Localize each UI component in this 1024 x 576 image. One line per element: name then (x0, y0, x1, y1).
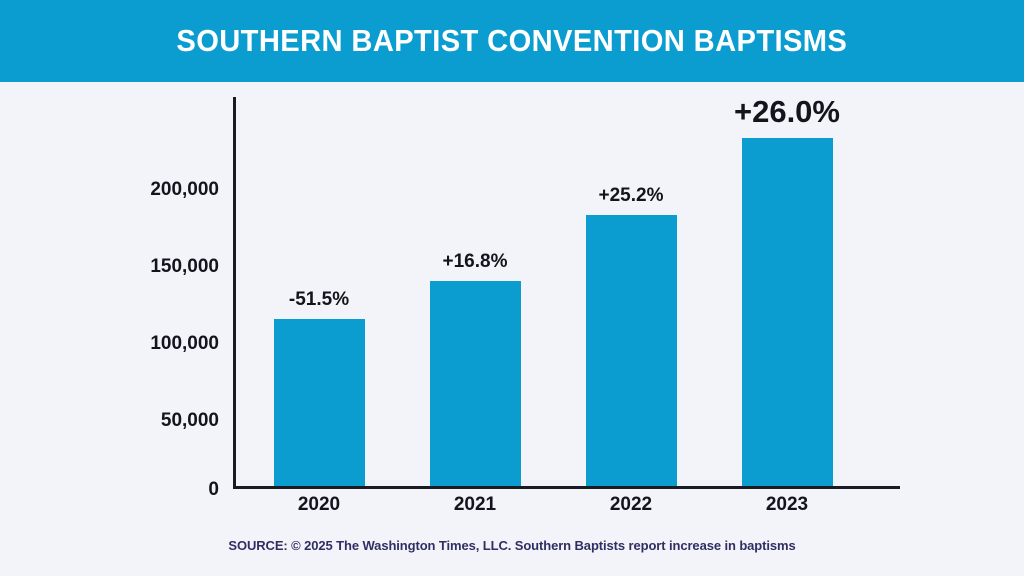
bar-value-label: -51.5% (236, 289, 402, 311)
x-axis-label-2020: 2020 (236, 494, 402, 516)
bar-chart: 200,000 150,000 100,000 50,000 0 -51.5% … (0, 82, 1024, 532)
bar-2020[interactable] (274, 319, 365, 486)
x-axis-label-2023: 2023 (704, 494, 870, 516)
x-axis-label-2022: 2022 (548, 494, 714, 516)
bar-group-2020: -51.5% (236, 82, 402, 486)
y-axis-tick-label: 50,000 (0, 411, 219, 430)
bar-value-label: +16.8% (392, 251, 558, 273)
bar-group-2022: +25.2% (548, 82, 714, 486)
bar-2023[interactable] (742, 138, 833, 486)
title-banner: SOUTHERN BAPTIST CONVENTION BAPTISMS (0, 0, 1024, 82)
bar-group-2021: +16.8% (392, 82, 558, 486)
y-axis-tick-label: 100,000 (0, 334, 219, 353)
bar-value-label-highlight: +26.0% (704, 94, 870, 130)
x-axis-label-2021: 2021 (392, 494, 558, 516)
bars-layer: -51.5% +16.8% +25.2% +26.0% 2020 2021 20… (236, 82, 900, 488)
source-attribution: SOURCE: © 2025 The Washington Times, LLC… (0, 538, 1024, 553)
bar-2022[interactable] (586, 215, 677, 486)
page-title: SOUTHERN BAPTIST CONVENTION BAPTISMS (177, 23, 848, 59)
bar-value-label: +25.2% (548, 185, 714, 207)
infographic-root: SOUTHERN BAPTIST CONVENTION BAPTISMS 200… (0, 0, 1024, 576)
bar-2021[interactable] (430, 281, 521, 486)
y-axis-tick-label: 200,000 (0, 180, 219, 199)
bar-group-2023: +26.0% (704, 82, 870, 486)
y-axis-tick-label: 150,000 (0, 257, 219, 276)
y-axis-tick-label: 0 (0, 480, 219, 499)
